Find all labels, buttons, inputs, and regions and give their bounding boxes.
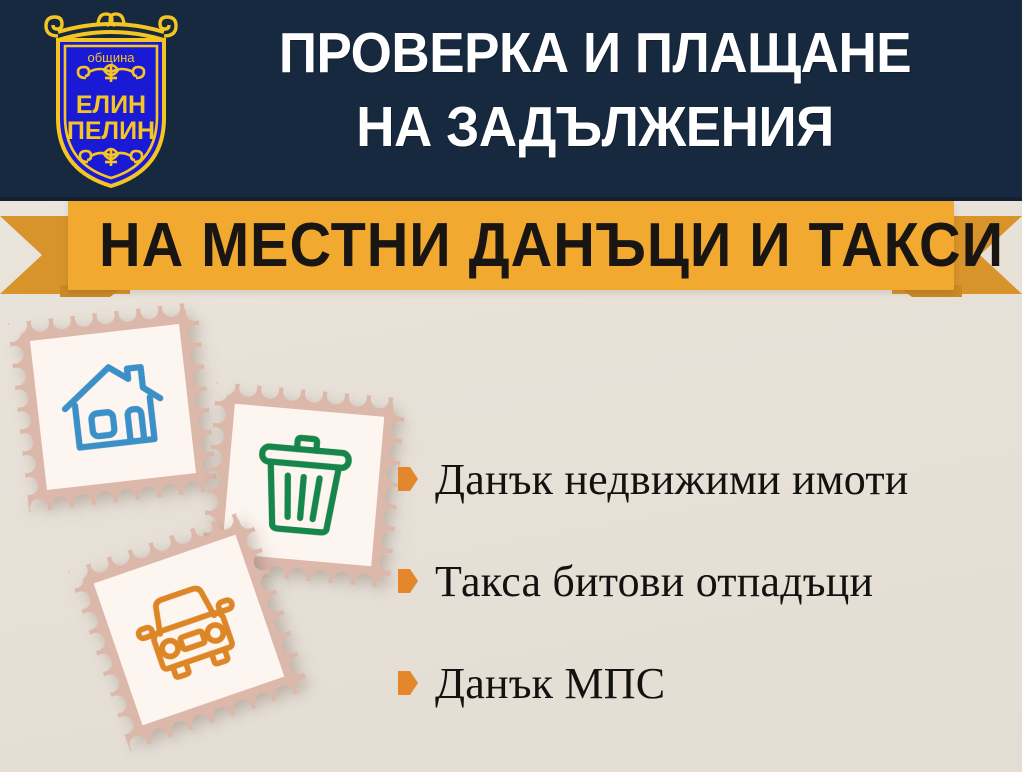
crest-municipality-word: община <box>87 50 135 65</box>
list-item-label: Данък недвижими имоти <box>435 454 909 505</box>
arrow-bullet-icon <box>398 569 418 593</box>
page-title-line-2: НА ЗАДЪЛЖЕНИЯ <box>223 90 967 164</box>
ribbon-label: НА МЕСТНИ ДАНЪЦИ И ТАКСИ <box>99 201 923 290</box>
stamp-card-house <box>8 302 218 512</box>
ribbon-body: НА МЕСТНИ ДАНЪЦИ И ТАКСИ <box>68 201 954 290</box>
list-item-label: Данък МПС <box>435 658 665 709</box>
arrow-bullet-icon <box>398 467 418 491</box>
list-item[interactable]: Данък МПС <box>398 632 1008 734</box>
subtitle-ribbon: НА МЕСТНИ ДАНЪЦИ И ТАКСИ <box>0 196 1022 306</box>
list-item[interactable]: Такса битови отпадъци <box>398 530 1008 632</box>
trash-bin-icon <box>241 423 365 547</box>
house-icon <box>50 344 176 470</box>
poster-root: община ЕЛИН ПЕЛИН <box>0 0 1022 772</box>
list-item[interactable]: Данък недвижими имоти <box>398 428 1008 530</box>
crest-name-line1: ЕЛИН <box>76 91 146 119</box>
coat-of-arms-elin-pelin: община ЕЛИН ПЕЛИН <box>42 10 180 190</box>
arrow-bullet-icon <box>398 671 418 695</box>
page-title: ПРОВЕРКА И ПЛАЩАНЕ НА ЗАДЪЛЖЕНИЯ <box>223 16 967 164</box>
page-title-line-1: ПРОВЕРКА И ПЛАЩАНЕ <box>223 16 967 90</box>
crest-name-line2: ПЕЛИН <box>67 117 155 145</box>
list-item-label: Такса битови отпадъци <box>435 556 873 607</box>
tax-type-list: Данък недвижими имоти Такса битови отпад… <box>398 428 1008 734</box>
